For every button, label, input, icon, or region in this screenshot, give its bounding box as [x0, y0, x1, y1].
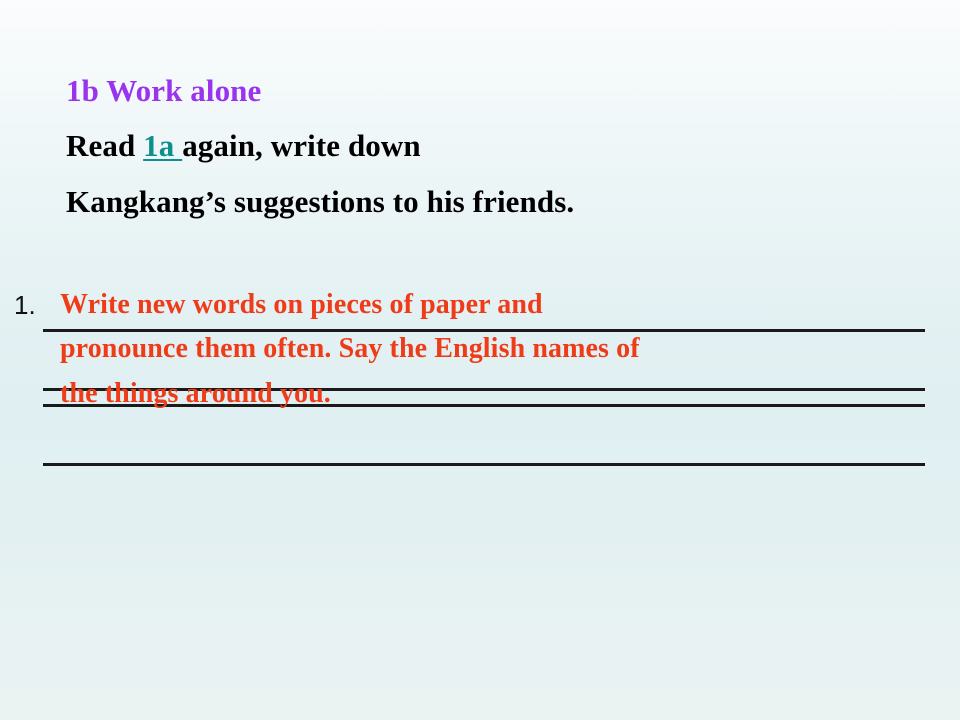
- activity-title: 1b Work alone: [66, 72, 946, 110]
- answer-rule-line-4: [43, 463, 925, 466]
- reference-link-1a[interactable]: 1a: [143, 128, 182, 163]
- header-block: 1b Work alone Read 1a again, write down …: [66, 72, 946, 221]
- answer-text-line-1: Write new words on pieces of paper and: [60, 286, 950, 323]
- instruction-text-after-link: again, write down: [182, 128, 421, 163]
- instruction-line-1: Read 1a again, write down: [66, 127, 946, 165]
- answer-text-block: Write new words on pieces of paper and p…: [60, 286, 950, 412]
- answer-text-line-3: the things around you.: [60, 375, 950, 412]
- instruction-line-2: Kangkang’s suggestions to his friends.: [66, 183, 946, 221]
- slide-canvas: 1b Work alone Read 1a again, write down …: [0, 0, 960, 720]
- instruction-text-before-link: Read: [66, 128, 143, 163]
- answer-item-number: 1.: [14, 290, 36, 320]
- answer-text-line-2: pronounce them often. Say the English na…: [60, 330, 950, 367]
- answer-area: 1. Write new words on pieces of paper an…: [0, 286, 960, 476]
